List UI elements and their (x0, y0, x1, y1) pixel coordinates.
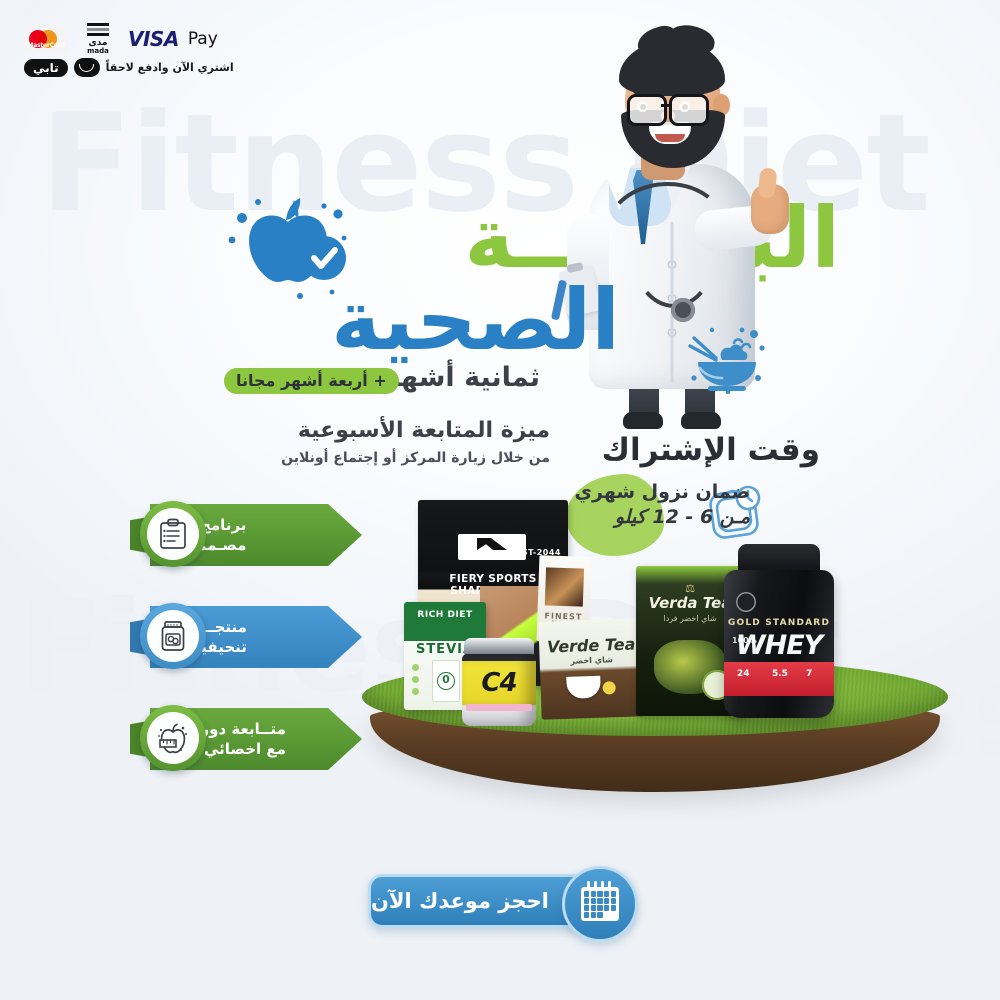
clipboard-icon (158, 518, 188, 550)
calendar-icon (581, 887, 619, 921)
headline-line2: الصحية (150, 278, 620, 362)
feature-icon-badge (140, 705, 206, 771)
visa-logo: VISA (128, 27, 179, 51)
glasses-icon (627, 94, 667, 126)
feature-ribbon-free-products[interactable]: منتجـــــات تنحيفية مجاناً (112, 600, 362, 674)
product-verde-tea-pack: Verde Tea شاي اخضر (538, 618, 645, 720)
subscription-title: وقت الإشتراك (560, 432, 820, 468)
calendar-icon-circle[interactable] (562, 866, 638, 942)
payment-methods-strip: MasterCard مدى mada VISA Pay اشتري الآن … (24, 26, 254, 77)
feature-ribbon-diet-plan[interactable]: برنامج غذائي مصـمم لك (112, 498, 362, 572)
feature-icon-badge (140, 603, 206, 669)
promo-poster: Fitness Diet Fitness Diet Fitness Diet M… (0, 0, 1000, 1000)
guarantee-text: ضمان نزول شهري مـن 6 - 12 كيلو (560, 480, 750, 529)
feature-icon-badge (140, 501, 206, 567)
free-months-badge: + أربعة أشهر مجانا (224, 368, 399, 394)
guarantee-line1: ضمان نزول شهري (560, 480, 750, 505)
apple-ruler-icon (157, 722, 189, 754)
smiley-icon (74, 58, 100, 77)
salad-bowl-icon (688, 326, 766, 398)
product-c4-jar: C4 (462, 638, 536, 730)
guarantee-line2: مـن 6 - 12 كيلو (560, 505, 750, 530)
optimum-nutrition-logo (736, 592, 756, 612)
tabby-logo: تابي (24, 59, 68, 77)
product-whey-protein-tub: GOLD STANDARD 100% WHEY 24 5.5 7 (724, 544, 834, 720)
apple-pay-logo: Pay (186, 29, 218, 49)
mada-logo: مدى mada (75, 26, 121, 52)
supplement-bottle-icon (158, 620, 188, 652)
weekly-followup-title: ميزة المتابعة الأسبوعية (250, 418, 550, 443)
mastercard-logo: MasterCard (24, 26, 68, 52)
feature-ribbon-dietitian-followup[interactable]: متــابعة دورية مع اخصائي التغذية (112, 702, 362, 776)
bnpl-text: اشتري الآن وادفع لاحقاً (106, 61, 234, 74)
weekly-followup-subtitle: من خلال زيارة المركز أو إجتماع أونلاين (240, 450, 550, 466)
